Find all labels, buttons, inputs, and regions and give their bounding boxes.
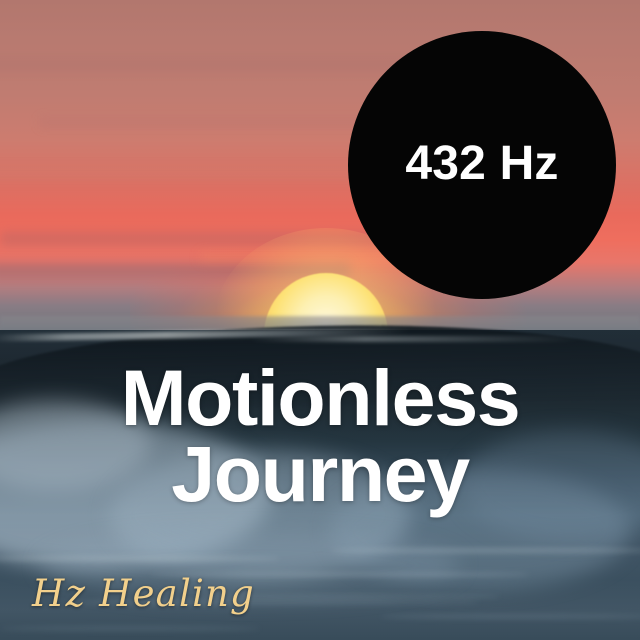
album-title-line-1: Motionless xyxy=(0,360,640,436)
artist-name: Hz Healing xyxy=(32,575,255,612)
frequency-badge: 432 Hz xyxy=(348,31,616,299)
frequency-badge-label: 432 Hz xyxy=(405,140,558,188)
album-title: Motionless Journey xyxy=(0,360,640,512)
album-cover: 432 Hz Motionless Journey Hz Healing xyxy=(0,0,640,640)
album-title-line-2: Journey xyxy=(0,436,640,512)
